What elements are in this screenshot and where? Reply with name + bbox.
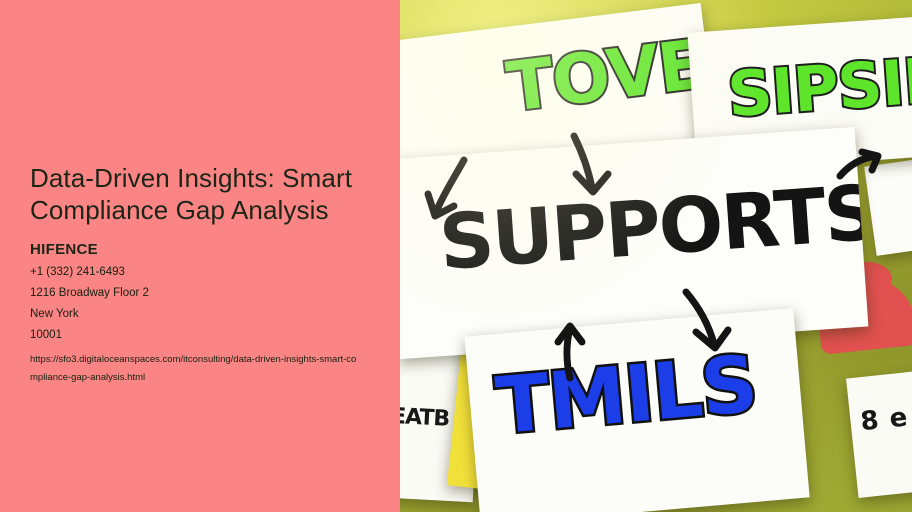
right-image-panel: EATB TOVERS SIPSID SUPPORTS	[400, 0, 912, 512]
card-tmils: TMILS	[464, 308, 809, 512]
address-city: New York	[30, 308, 380, 320]
sticky-notes-photo: EATB TOVERS SIPSID SUPPORTS	[400, 0, 912, 512]
address-street: 1216 Broadway Floor 2	[30, 287, 380, 299]
left-text-panel: Data-Driven Insights: Smart Compliance G…	[0, 0, 400, 512]
source-url: https://sfo3.digitaloceanspaces.com/itco…	[30, 351, 360, 387]
card-sipside-text: SIPSID	[725, 43, 912, 132]
slide: Data-Driven Insights: Smart Compliance G…	[0, 0, 912, 512]
card-fragment-right-text: 8 e	[859, 402, 910, 437]
address-zip: 10001	[30, 329, 380, 341]
phone-number: +1 (332) 241-6493	[30, 266, 380, 278]
arrow-down-right-icon	[568, 134, 628, 204]
card-leftovers-text: TOVERS	[503, 13, 717, 128]
card-fragment-left-text: EATB	[400, 404, 450, 432]
text-block: Data-Driven Insights: Smart Compliance G…	[30, 163, 380, 387]
arrow-small-right-icon	[838, 150, 884, 184]
arrow-down-left-icon	[424, 158, 484, 228]
card-fragment-right: 8 e	[846, 366, 912, 498]
arrow-up-icon	[552, 322, 592, 382]
card-supports-text: SUPPORTS	[436, 168, 868, 287]
arrow-down-curve-icon	[680, 288, 734, 358]
source-url-line-1: https://sfo3.digitaloceanspaces.com/itco…	[30, 354, 304, 365]
company-name: HIFENCE	[30, 241, 380, 258]
page-title: Data-Driven Insights: Smart Compliance G…	[30, 163, 380, 227]
